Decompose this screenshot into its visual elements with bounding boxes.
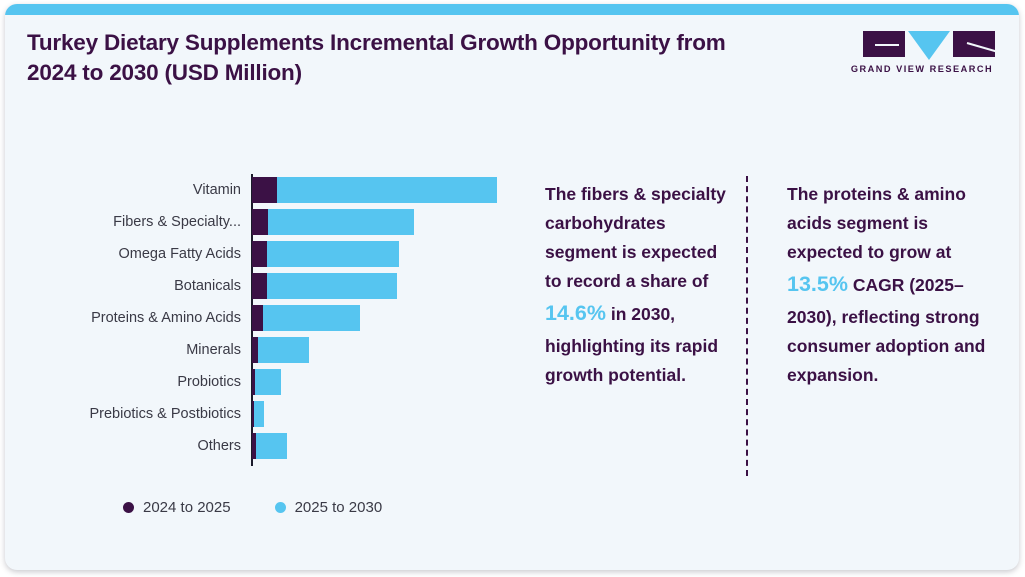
chart-legend: 2024 to 20252025 to 2030 <box>123 499 382 516</box>
callout-right-highlight: 13.5% <box>787 272 848 296</box>
callout-fibers-specialty: The fibers & specialty carbohydrates seg… <box>545 180 730 390</box>
category-label: Omega Fatty Acids <box>5 238 247 270</box>
infographic-card: Turkey Dietary Supplements Incremental G… <box>5 4 1019 570</box>
category-label: Probiotics <box>5 366 247 398</box>
category-label: Botanicals <box>5 270 247 302</box>
top-accent-bar <box>5 4 1019 15</box>
grand-view-research-logo: GRAND VIEW RESEARCH <box>847 31 997 89</box>
bar-segment-forecast[interactable] <box>254 401 264 427</box>
bar-segment-forecast[interactable] <box>263 305 360 331</box>
category-label: Proteins & Amino Acids <box>5 302 247 334</box>
logo-marks <box>847 31 997 61</box>
callout-right-pre: The proteins & amino acids segment is ex… <box>787 184 966 262</box>
bar-row[interactable] <box>252 174 497 206</box>
bar-row[interactable] <box>252 430 287 462</box>
legend-item[interactable]: 2024 to 2025 <box>123 499 231 516</box>
category-label: Minerals <box>5 334 247 366</box>
bar-segment-forecast[interactable] <box>267 241 399 267</box>
logo-g-icon <box>863 31 905 57</box>
page-title: Turkey Dietary Supplements Incremental G… <box>27 28 727 87</box>
category-label: Others <box>5 430 247 462</box>
bar-row[interactable] <box>252 398 264 430</box>
legend-dot-icon <box>123 502 134 513</box>
bar-row[interactable] <box>252 334 309 366</box>
bar-segment-prior[interactable] <box>252 177 277 203</box>
callout-mid-pre: The fibers & specialty carbohydrates seg… <box>545 184 726 291</box>
callout-divider <box>746 176 748 476</box>
category-label: Vitamin <box>5 174 247 206</box>
bar-row[interactable] <box>252 270 397 302</box>
bar-segment-prior[interactable] <box>252 209 268 235</box>
bar-segment-forecast[interactable] <box>258 337 310 363</box>
bar-segment-forecast[interactable] <box>277 177 497 203</box>
bar-row[interactable] <box>252 206 414 238</box>
bar-segment-forecast[interactable] <box>256 433 287 459</box>
bar-row[interactable] <box>252 302 360 334</box>
bar-row[interactable] <box>252 238 399 270</box>
bar-segment-forecast[interactable] <box>267 273 397 299</box>
category-axis-labels: VitaminFibers & Specialty...Omega Fatty … <box>5 174 247 466</box>
legend-label: 2024 to 2025 <box>143 499 231 516</box>
bar-segment-forecast[interactable] <box>268 209 415 235</box>
incremental-growth-bar-chart: VitaminFibers & Specialty...Omega Fatty … <box>5 174 525 474</box>
category-label: Prebiotics & Postbiotics <box>5 398 247 430</box>
category-label: Fibers & Specialty... <box>5 206 247 238</box>
callout-proteins-amino-acids: The proteins & amino acids segment is ex… <box>787 180 992 390</box>
legend-dot-icon <box>275 502 286 513</box>
legend-label: 2025 to 2030 <box>295 499 383 516</box>
legend-item[interactable]: 2025 to 2030 <box>275 499 383 516</box>
bar-segment-forecast[interactable] <box>255 369 281 395</box>
logo-r-icon <box>953 31 995 57</box>
header: Turkey Dietary Supplements Incremental G… <box>5 15 1019 100</box>
logo-v-triangle-icon <box>908 31 950 60</box>
logo-wordmark: GRAND VIEW RESEARCH <box>847 64 997 74</box>
bar-segment-prior[interactable] <box>252 305 263 331</box>
bar-segment-prior[interactable] <box>252 273 267 299</box>
bar-segment-prior[interactable] <box>252 241 267 267</box>
plot-area <box>251 174 521 466</box>
bar-row[interactable] <box>252 366 281 398</box>
callout-mid-highlight: 14.6% <box>545 301 606 325</box>
